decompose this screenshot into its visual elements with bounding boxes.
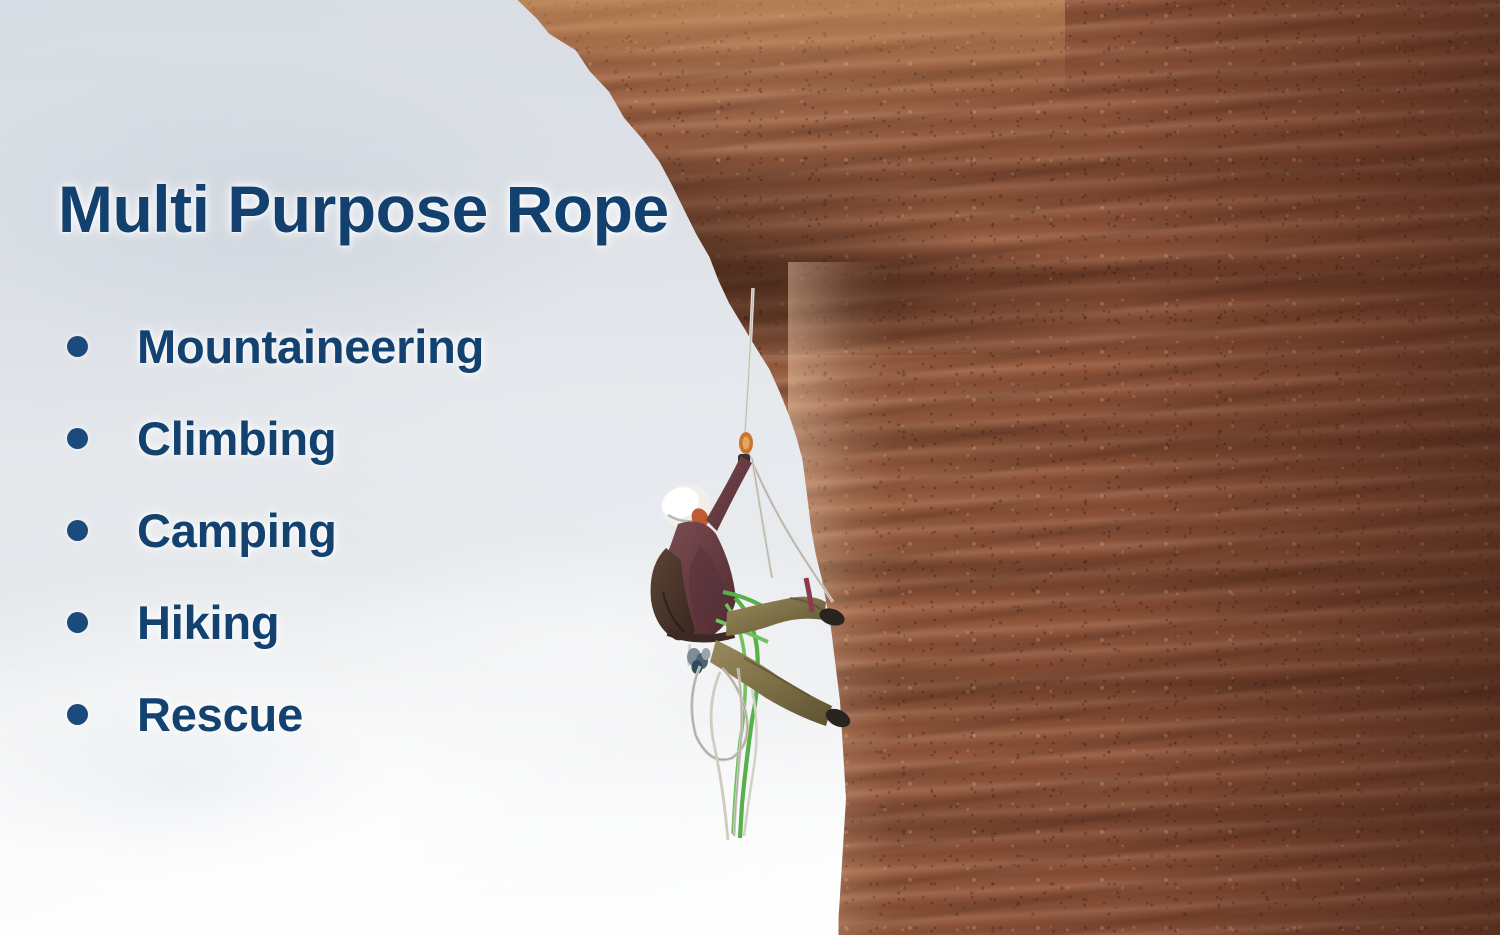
bullet-dot-icon — [67, 520, 88, 541]
climber-raised-arm — [706, 456, 752, 531]
list-item: Rescue — [58, 668, 484, 760]
list-item: Mountaineering — [58, 300, 484, 392]
upper-rope-strands — [748, 452, 833, 602]
bullet-dot-icon — [67, 428, 88, 449]
list-item-label: Climbing — [137, 411, 336, 466]
bullet-dot-icon — [67, 336, 88, 357]
list-item: Climbing — [58, 392, 484, 484]
list-item-label: Rescue — [137, 687, 303, 742]
anchor-rope — [745, 288, 753, 432]
list-item-label: Mountaineering — [137, 319, 484, 374]
list-item: Hiking — [58, 576, 484, 668]
list-item-label: Hiking — [137, 595, 279, 650]
list-item: Camping — [58, 484, 484, 576]
banner-image: Multi Purpose Rope Mountaineering Climbi… — [0, 0, 1500, 935]
bullet-dot-icon — [67, 704, 88, 725]
climber-lower-leg — [710, 640, 832, 726]
feature-list: Mountaineering Climbing Camping Hiking R… — [58, 300, 484, 760]
bullet-dot-icon — [67, 612, 88, 633]
list-item-label: Camping — [137, 503, 337, 558]
page-title: Multi Purpose Rope — [58, 171, 669, 247]
